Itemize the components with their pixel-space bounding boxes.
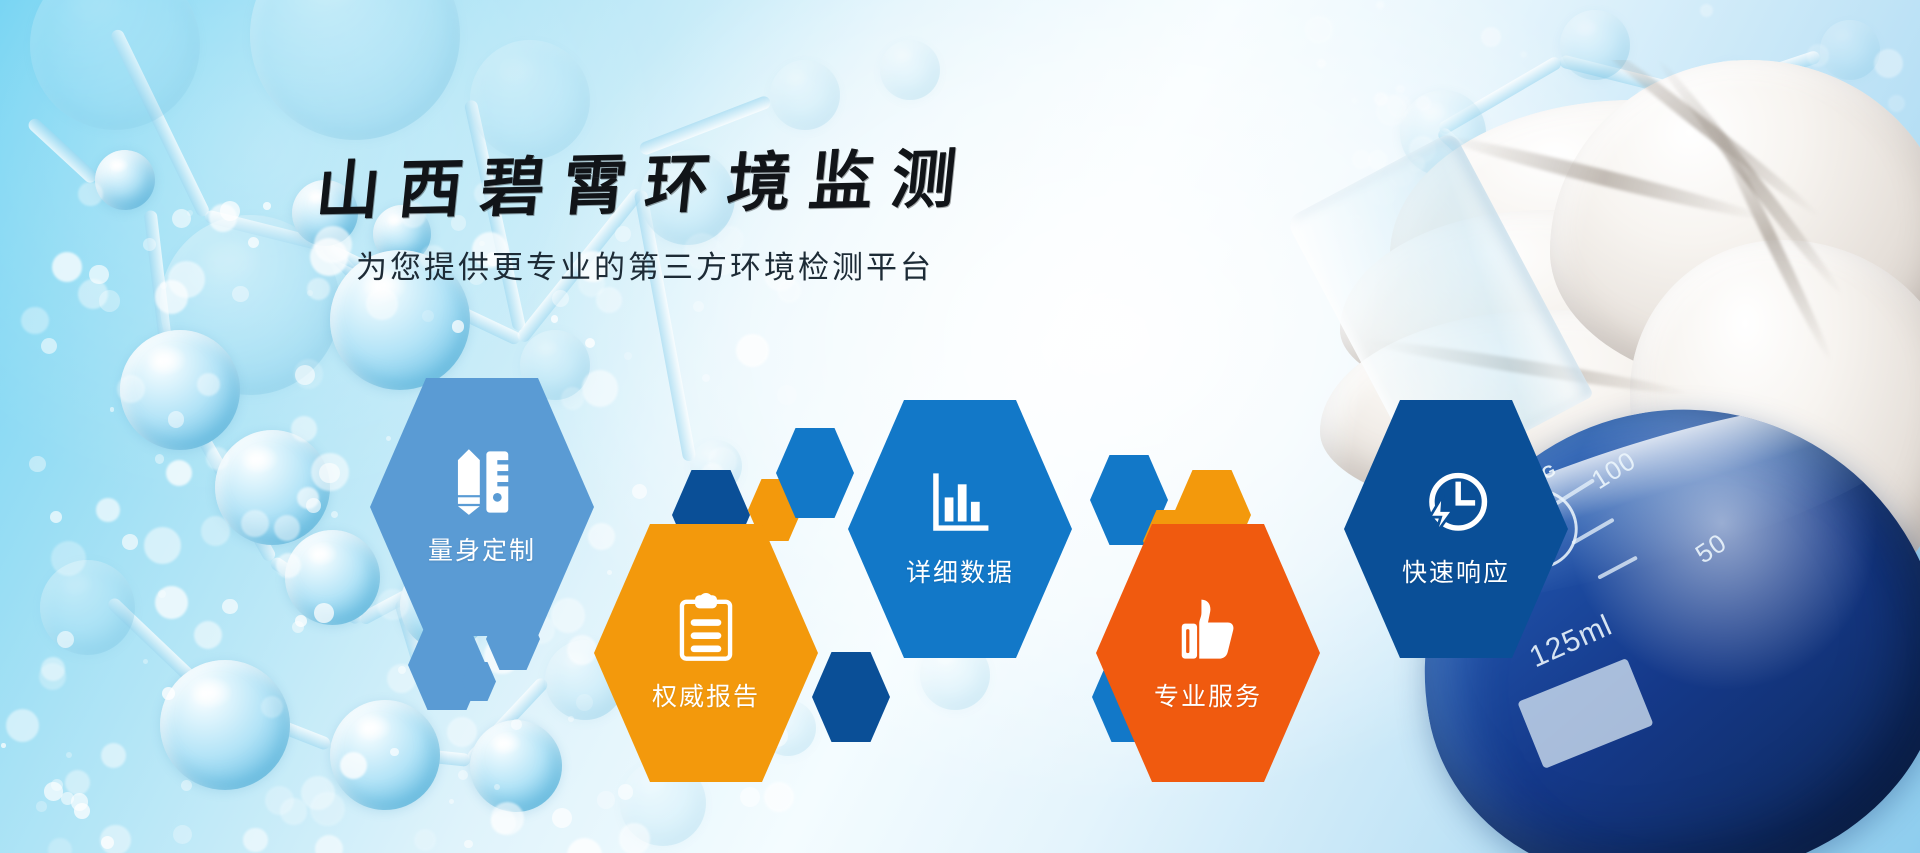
bokeh-dot bbox=[366, 288, 399, 321]
bokeh-dot bbox=[702, 374, 710, 382]
clock-bolt-icon bbox=[1421, 469, 1491, 539]
feature-hex-custom-tailored[interactable]: 量身定制 bbox=[370, 378, 594, 636]
bokeh-dot bbox=[552, 808, 573, 829]
bokeh-dot bbox=[1807, 44, 1830, 67]
bar-chart-icon bbox=[925, 469, 995, 539]
bokeh-dot bbox=[398, 666, 406, 674]
bokeh-dot bbox=[29, 456, 46, 473]
bokeh-dot bbox=[1768, 79, 1788, 99]
bokeh-dot bbox=[155, 586, 188, 619]
bokeh-dot bbox=[386, 436, 391, 441]
bokeh-dot bbox=[340, 752, 368, 780]
bokeh-dot bbox=[491, 802, 524, 835]
bokeh-dot bbox=[101, 743, 126, 768]
bokeh-dot bbox=[567, 838, 602, 853]
bokeh-dot bbox=[274, 515, 300, 541]
bokeh-dot bbox=[568, 716, 574, 722]
bokeh-dot bbox=[1376, 1, 1384, 9]
bokeh-dot bbox=[693, 301, 704, 312]
flask-mark-100: 100 bbox=[1586, 445, 1642, 496]
molecule-atom bbox=[1820, 20, 1880, 80]
bokeh-dot bbox=[1868, 158, 1879, 169]
molecule-atom bbox=[1480, 150, 1536, 206]
bokeh-dot bbox=[511, 719, 522, 730]
bokeh-dot bbox=[1, 743, 6, 748]
bokeh-dot bbox=[1585, 232, 1607, 254]
molecule-atom bbox=[1560, 10, 1630, 80]
bokeh-dot bbox=[777, 385, 797, 405]
bokeh-dot bbox=[155, 454, 165, 464]
bokeh-dot bbox=[1408, 155, 1425, 172]
molecule-atom bbox=[330, 700, 440, 810]
bokeh-dot bbox=[122, 534, 138, 550]
feature-label: 快速响应 bbox=[1402, 553, 1510, 589]
decor-hexagon bbox=[812, 652, 890, 742]
bokeh-dot bbox=[265, 786, 294, 815]
bokeh-dot bbox=[740, 787, 760, 807]
bokeh-dot bbox=[1396, 85, 1405, 94]
bokeh-dot bbox=[294, 359, 324, 389]
molecule-bond bbox=[329, 739, 470, 767]
bokeh-dot bbox=[96, 498, 119, 521]
bokeh-dot bbox=[1397, 231, 1428, 262]
bokeh-dot bbox=[100, 825, 130, 853]
bokeh-dot bbox=[301, 776, 335, 810]
bokeh-dot bbox=[1388, 159, 1415, 186]
bokeh-dot bbox=[144, 527, 181, 564]
thumbs-up-icon bbox=[1173, 593, 1243, 663]
molecule-atom bbox=[250, 0, 460, 140]
bokeh-dot bbox=[117, 375, 145, 403]
bokeh-dot bbox=[1376, 95, 1407, 126]
bokeh-dot bbox=[494, 784, 500, 790]
bokeh-dot bbox=[1750, 110, 1781, 141]
bokeh-dot bbox=[319, 463, 340, 484]
bokeh-dot bbox=[1700, 4, 1713, 17]
bokeh-dot bbox=[206, 447, 229, 470]
molecule-atom bbox=[470, 720, 562, 812]
bokeh-dot bbox=[291, 416, 317, 442]
bokeh-dot bbox=[1874, 49, 1903, 78]
molecule-atom bbox=[470, 40, 590, 160]
bokeh-dot bbox=[1351, 97, 1358, 104]
bokeh-dot bbox=[173, 825, 192, 844]
feature-hex-professional-service[interactable]: 专业服务 bbox=[1096, 524, 1320, 782]
flask-volume-mark: 125ml bbox=[1525, 609, 1618, 675]
bokeh-dot bbox=[1758, 218, 1764, 224]
bokeh-dot bbox=[50, 511, 62, 523]
bokeh-dot bbox=[261, 696, 283, 718]
title-block: 山西碧霄环境监测 为您提供更专业的第三方环境检测平台 bbox=[0, 150, 1290, 287]
bokeh-dot bbox=[736, 334, 769, 367]
bokeh-dot bbox=[315, 835, 343, 853]
bokeh-dot bbox=[51, 779, 63, 791]
molecule-bond bbox=[169, 385, 277, 563]
molecule-bond bbox=[1698, 49, 1822, 101]
bokeh-dot bbox=[36, 801, 46, 811]
page-tagline: 为您提供更专业的第三方环境检测平台 bbox=[0, 242, 1290, 287]
pencil-ruler-icon bbox=[447, 447, 517, 517]
bokeh-dot bbox=[491, 810, 515, 834]
bokeh-dot bbox=[1416, 96, 1431, 111]
bokeh-dot bbox=[41, 657, 65, 681]
bokeh-dot bbox=[449, 799, 455, 805]
bokeh-dot bbox=[297, 487, 319, 509]
bokeh-dot bbox=[607, 570, 613, 576]
bokeh-dot bbox=[194, 621, 222, 649]
bokeh-dot bbox=[162, 687, 175, 700]
bokeh-dot bbox=[65, 770, 90, 795]
bokeh-dot bbox=[201, 516, 231, 546]
bokeh-dot bbox=[6, 709, 39, 742]
flask-mark-50: 50 bbox=[1690, 527, 1733, 570]
bokeh-dot bbox=[1305, 16, 1332, 43]
bokeh-dot bbox=[310, 792, 344, 826]
bokeh-dot bbox=[1716, 196, 1740, 220]
bokeh-dot bbox=[1593, 173, 1599, 179]
bokeh-dot bbox=[197, 373, 220, 396]
bokeh-dot bbox=[1698, 115, 1713, 130]
bokeh-dot bbox=[464, 840, 472, 848]
bokeh-dot bbox=[1374, 92, 1388, 106]
bokeh-dot bbox=[619, 823, 651, 853]
molecule-bond bbox=[268, 555, 363, 626]
molecule-bond bbox=[1437, 55, 1564, 136]
bokeh-dot bbox=[21, 307, 48, 334]
bokeh-dot bbox=[1861, 295, 1872, 306]
feature-hex-detailed-data[interactable]: 详细数据 bbox=[848, 400, 1072, 658]
bokeh-dot bbox=[1678, 136, 1686, 144]
bokeh-dot bbox=[276, 553, 301, 578]
bokeh-dot bbox=[576, 694, 593, 711]
molecule-atom bbox=[215, 430, 330, 545]
bokeh-dot bbox=[1733, 108, 1743, 118]
bokeh-dot bbox=[243, 828, 268, 853]
bokeh-dot bbox=[764, 782, 794, 812]
feature-label: 专业服务 bbox=[1154, 677, 1262, 713]
bokeh-dot bbox=[582, 370, 619, 407]
bokeh-dot bbox=[166, 460, 192, 486]
bokeh-dot bbox=[1559, 145, 1588, 174]
bokeh-dot bbox=[414, 829, 436, 851]
bokeh-dot bbox=[588, 523, 615, 550]
bokeh-dot bbox=[1443, 168, 1467, 192]
molecule-bond bbox=[1436, 126, 1505, 191]
bokeh-dot bbox=[1888, 95, 1905, 112]
molecule-atom bbox=[1700, 60, 1764, 124]
bokeh-dot bbox=[71, 793, 89, 811]
feature-label: 权威报告 bbox=[652, 677, 760, 713]
bokeh-dot bbox=[241, 510, 268, 537]
hero-banner: TAI FONG TF 100 50 125ml 山西碧霄环境监测 为您提供更专… bbox=[0, 0, 1920, 853]
bokeh-dot bbox=[447, 717, 478, 748]
clipboard-icon bbox=[671, 593, 741, 663]
bokeh-dot bbox=[458, 770, 468, 780]
bokeh-dot bbox=[561, 387, 584, 410]
bokeh-dot bbox=[57, 631, 74, 648]
bokeh-dot bbox=[331, 511, 338, 518]
molecule-atom bbox=[120, 330, 240, 450]
bokeh-dot bbox=[74, 803, 90, 819]
bokeh-dot bbox=[597, 791, 615, 809]
bokeh-dot bbox=[222, 599, 237, 614]
bokeh-dot bbox=[51, 541, 86, 576]
bokeh-dot bbox=[295, 365, 315, 385]
bokeh-dot bbox=[181, 780, 192, 791]
bokeh-dot bbox=[1409, 136, 1436, 163]
bokeh-dot bbox=[596, 287, 622, 313]
molecule-bond bbox=[106, 596, 220, 705]
bokeh-dot bbox=[1573, 183, 1600, 210]
bokeh-dot bbox=[632, 484, 647, 499]
molecule-atom bbox=[285, 530, 380, 625]
bokeh-dot bbox=[585, 338, 595, 348]
bokeh-dot bbox=[48, 838, 72, 853]
feature-label: 量身定制 bbox=[428, 531, 536, 567]
molecule-bond bbox=[213, 694, 333, 751]
bokeh-dot bbox=[143, 659, 148, 664]
molecule-atom bbox=[160, 660, 290, 790]
molecule-atom bbox=[770, 60, 840, 130]
bokeh-dot bbox=[39, 663, 66, 690]
feature-label: 详细数据 bbox=[906, 553, 1014, 589]
molecule-atom bbox=[880, 40, 940, 100]
bokeh-dot bbox=[61, 792, 74, 805]
bokeh-dot bbox=[1520, 51, 1527, 58]
bokeh-dot bbox=[292, 621, 304, 633]
molecule-atom bbox=[30, 0, 200, 130]
bokeh-dot bbox=[1317, 59, 1326, 68]
page-title: 山西碧霄环境监测 bbox=[313, 144, 978, 228]
feature-hex-fast-response[interactable]: 快速响应 bbox=[1344, 400, 1568, 658]
bokeh-dot bbox=[422, 310, 434, 322]
bokeh-dot bbox=[452, 320, 465, 333]
bokeh-dot bbox=[390, 748, 398, 756]
bokeh-dot bbox=[1636, 87, 1663, 114]
bokeh-dot bbox=[101, 836, 114, 849]
bokeh-dot bbox=[1529, 118, 1555, 144]
bokeh-dot bbox=[99, 290, 121, 312]
bokeh-dot bbox=[551, 315, 559, 323]
bokeh-dot bbox=[552, 290, 569, 307]
bokeh-dot bbox=[306, 498, 321, 513]
molecule-atom bbox=[1400, 90, 1486, 176]
bokeh-dot bbox=[307, 290, 313, 296]
bokeh-dot bbox=[158, 590, 167, 599]
bokeh-dot bbox=[1368, 150, 1387, 169]
bokeh-dot bbox=[295, 615, 307, 627]
bokeh-dot bbox=[618, 784, 634, 800]
bokeh-dot bbox=[1367, 175, 1398, 206]
bokeh-dot bbox=[567, 635, 597, 665]
flask-label-patch bbox=[1517, 658, 1653, 769]
bokeh-dot bbox=[551, 598, 585, 632]
bokeh-dot bbox=[44, 782, 62, 800]
bokeh-dot bbox=[168, 411, 184, 427]
bokeh-dot bbox=[1352, 150, 1371, 169]
bokeh-dot bbox=[311, 453, 349, 491]
bokeh-dot bbox=[377, 589, 409, 621]
feature-hex-authoritative-report[interactable]: 权威报告 bbox=[594, 524, 818, 782]
bokeh-dot bbox=[1344, 215, 1366, 237]
bokeh-dot bbox=[66, 752, 72, 758]
bokeh-dot bbox=[1387, 94, 1411, 118]
bokeh-dot bbox=[624, 352, 632, 360]
molecule-atom bbox=[40, 560, 135, 655]
molecule-bond bbox=[1558, 54, 1701, 102]
bokeh-dot bbox=[1481, 27, 1501, 47]
bokeh-dot bbox=[1658, 115, 1666, 123]
bokeh-dot bbox=[110, 407, 114, 411]
bokeh-dot bbox=[314, 603, 334, 623]
bokeh-dot bbox=[41, 338, 57, 354]
bokeh-dot bbox=[232, 286, 249, 303]
bokeh-dot bbox=[280, 798, 306, 824]
